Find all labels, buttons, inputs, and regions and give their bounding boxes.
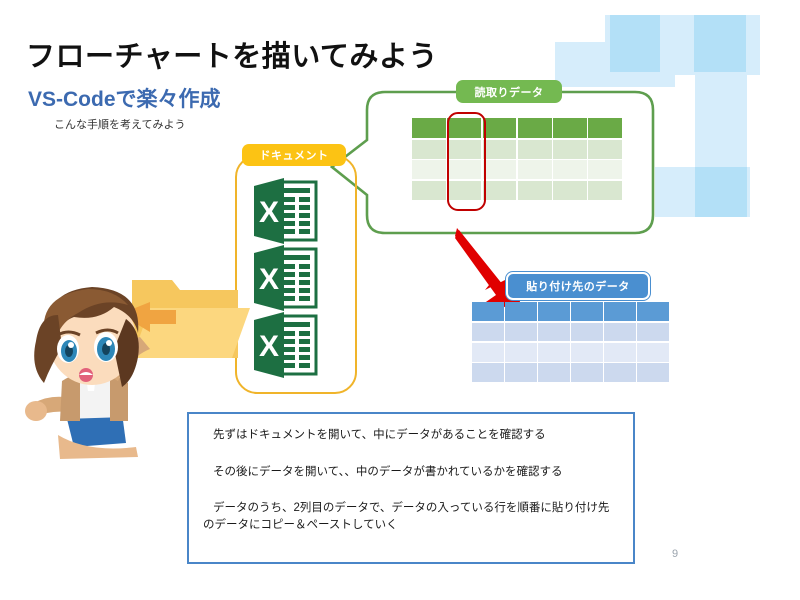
table-cell [588, 160, 622, 179]
excel-file-icon: X [252, 245, 322, 311]
table-cell [505, 343, 537, 362]
table-header-cell [518, 118, 552, 138]
table-cell [571, 343, 603, 362]
excel-file-icon: X [252, 312, 322, 378]
table-cell [412, 181, 446, 200]
table-header-cell [553, 118, 587, 138]
table-cell [637, 343, 669, 362]
svg-text:X: X [259, 263, 279, 296]
note-line-3: データのうち、2列目のデータで、データの入っている行を順番に貼り付け先のデータに… [203, 500, 619, 533]
page-title: フローチャートを描いてみよう [26, 33, 438, 75]
table-cell [412, 160, 446, 179]
decorative-square [610, 15, 660, 72]
table-cell [483, 140, 517, 159]
paste-target-badge: 貼り付け先のデータ [506, 272, 650, 300]
table-cell [483, 160, 517, 179]
procedure-notes-box: 先ずはドキュメントを開いて、中にデータがあることを確認する その後にデータを開い… [187, 412, 635, 564]
table-cell [588, 140, 622, 159]
table-cell [604, 343, 636, 362]
table-cell [472, 363, 504, 382]
table-cell [637, 323, 669, 342]
slide-canvas: フローチャートを描いてみよう VS-Codeで楽々作成 こんな手順を考えてみよう… [0, 0, 800, 600]
table-cell [518, 160, 552, 179]
table-cell [505, 323, 537, 342]
read-data-badge: 読取りデータ [456, 80, 562, 103]
anime-character-illustration [18, 275, 168, 460]
note-line-2: その後にデータを開いて、、中のデータが書かれているかを確認する [203, 464, 619, 481]
document-group-badge: ドキュメント [242, 144, 346, 166]
table-header-cell [571, 302, 603, 321]
page-number: 9 [672, 548, 678, 560]
table-header-cell [505, 302, 537, 321]
page-subtitle: VS-Codeで楽々作成 [28, 83, 221, 113]
table-cell [637, 363, 669, 382]
table-cell [553, 181, 587, 200]
table-cell [571, 323, 603, 342]
decorative-square [694, 15, 746, 72]
svg-text:X: X [259, 330, 279, 363]
table-header-cell [538, 302, 570, 321]
table-cell [571, 363, 603, 382]
table-cell [588, 181, 622, 200]
table-header-cell [588, 118, 622, 138]
red-arrow-icon [455, 228, 540, 313]
table-cell [505, 363, 537, 382]
table-cell [412, 140, 446, 159]
table-cell [518, 140, 552, 159]
paste-target-table [472, 302, 669, 382]
table-cell [538, 363, 570, 382]
red-column-highlight-icon [447, 112, 486, 211]
table-header-cell [604, 302, 636, 321]
page-subnote: こんな手順を考えてみよう [54, 116, 185, 132]
table-header-cell [412, 118, 446, 138]
table-cell [604, 363, 636, 382]
table-cell [604, 323, 636, 342]
table-cell [472, 343, 504, 362]
table-cell [483, 181, 517, 200]
table-header-cell [483, 118, 517, 138]
table-cell [538, 323, 570, 342]
svg-text:X: X [259, 196, 279, 229]
table-cell [518, 181, 552, 200]
table-cell [553, 160, 587, 179]
table-header-cell [472, 302, 504, 321]
read-data-table [412, 118, 622, 200]
note-line-1: 先ずはドキュメントを開いて、中にデータがあることを確認する [203, 427, 619, 444]
table-header-cell [637, 302, 669, 321]
table-cell [553, 140, 587, 159]
decorative-square [695, 167, 747, 217]
table-cell [538, 343, 570, 362]
table-cell [472, 323, 504, 342]
excel-file-icon: X [252, 178, 322, 244]
